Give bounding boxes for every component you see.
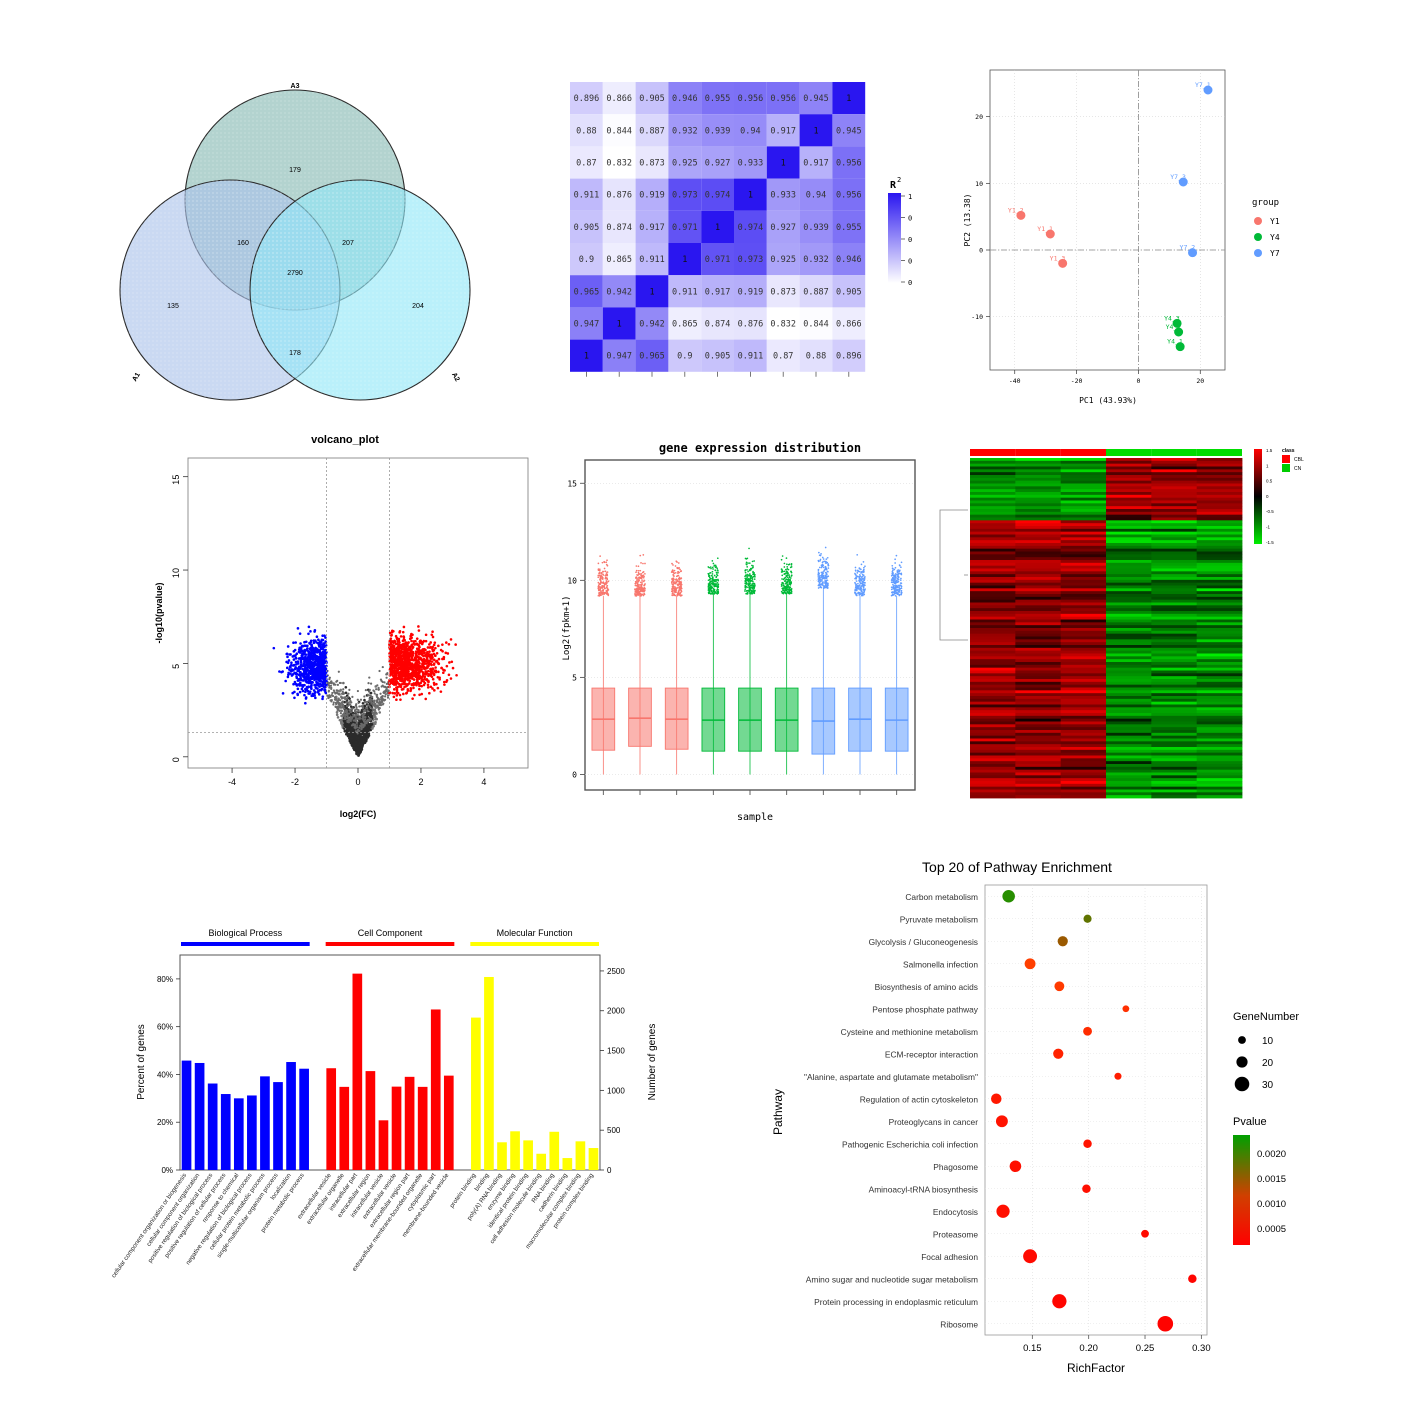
boxplot-outlier	[715, 570, 717, 572]
volcano-point	[427, 683, 430, 686]
volcano-point	[411, 697, 414, 700]
boxplot-outlier	[782, 587, 784, 589]
boxplot-outlier	[861, 589, 863, 591]
boxplot-outlier	[672, 591, 674, 593]
volcano-point	[319, 658, 322, 661]
volcano-point	[420, 668, 423, 671]
correlation-cell-value: 0.896	[574, 94, 600, 104]
boxplot-outlier	[786, 563, 788, 565]
correlation-cell-value: 0.974	[738, 223, 764, 233]
volcano-point	[313, 650, 316, 653]
boxplot-outlier	[827, 584, 829, 586]
volcano-point	[294, 641, 297, 644]
boxplot-outlier	[642, 563, 644, 565]
pca-point-label: Y7_2	[1180, 244, 1196, 252]
volcano-point	[286, 656, 289, 659]
boxplot-outlier	[712, 576, 714, 578]
volcano-point	[305, 672, 308, 675]
volcano-point	[417, 674, 420, 677]
venn-label-a2: A2	[450, 372, 461, 383]
boxplot-outlier	[786, 586, 788, 588]
boxplot-outlier	[637, 584, 639, 586]
volcano-point	[347, 693, 349, 695]
boxplot-outlier	[636, 593, 638, 595]
volcano-point	[400, 647, 403, 650]
boxplot-outlier	[863, 584, 865, 586]
boxplot-outlier	[602, 594, 604, 596]
volcano-point	[316, 683, 319, 686]
pca-panel: Y1_1Y1_2Y1_3Y4_1Y4_2Y4_3Y7_1Y7_2Y7_3 -40…	[960, 55, 1320, 415]
boxplot-outlier	[823, 570, 825, 572]
volcano-point	[406, 660, 409, 663]
boxplot-outlier	[713, 563, 715, 565]
volcano-point	[363, 740, 366, 743]
boxplot-outlier	[825, 581, 827, 583]
boxplot-outlier	[857, 583, 859, 585]
boxplot-outlier	[821, 566, 823, 568]
boxplot-outlier	[781, 582, 783, 584]
pca-plot-frame	[990, 70, 1225, 370]
correlation-legend-tick-label: 1	[908, 193, 912, 201]
volcano-point	[288, 659, 291, 662]
volcano-point	[428, 692, 431, 695]
boxplot-outlier	[599, 572, 601, 574]
boxplot-outlier	[863, 561, 865, 563]
volcano-point	[299, 642, 302, 645]
correlation-cell-value: 0.919	[639, 191, 665, 201]
volcano-point	[376, 684, 378, 686]
volcano-point	[289, 653, 292, 656]
venn-label-a1: A1	[131, 372, 142, 383]
correlation-cell-value: 0.917	[639, 223, 665, 233]
volcano-point	[390, 634, 393, 637]
boxplot-outlier	[675, 565, 677, 567]
volcano-point	[349, 740, 352, 743]
boxplot-outlier	[782, 555, 784, 557]
boxplot-outlier	[861, 585, 863, 587]
venn-svg: A3 A1 A2 179 160 207 2790 135 178 204	[60, 60, 530, 410]
volcano-point	[431, 687, 434, 690]
volcano-point	[292, 683, 295, 686]
volcano-point	[418, 646, 421, 649]
boxplot-outlier	[677, 573, 679, 575]
volcano-point	[432, 678, 435, 681]
correlation-cell-value: 0.956	[836, 159, 862, 169]
volcano-point	[368, 729, 371, 732]
volcano-point	[395, 698, 398, 701]
volcano-point	[393, 692, 396, 695]
volcano-point	[330, 688, 332, 690]
boxplot-outlier	[825, 547, 827, 549]
boxplot-outlier	[746, 574, 748, 576]
volcano-point	[407, 648, 410, 651]
volcano-point	[393, 649, 396, 652]
volcano-point	[341, 693, 343, 695]
volcano-point	[309, 630, 312, 633]
boxplot-outlier	[863, 567, 865, 569]
correlation-cell-value: 0.925	[770, 255, 796, 265]
boxplot-outlier	[640, 562, 642, 564]
boxplot-outlier	[712, 571, 714, 573]
volcano-point	[414, 664, 417, 667]
boxplot-outlier	[818, 587, 820, 589]
boxplot-outlier	[640, 581, 642, 583]
volcano-point	[335, 703, 337, 705]
correlation-cell-value: 0.933	[738, 159, 764, 169]
boxplot-outlier	[713, 588, 715, 590]
boxplot-outlier	[828, 565, 830, 567]
boxplot-outlier	[855, 567, 857, 569]
boxplot-outlier	[788, 564, 790, 566]
volcano-point	[367, 704, 369, 706]
boxplot-outlier	[752, 581, 754, 583]
volcano-point	[286, 667, 289, 670]
boxplot-outlier	[675, 572, 677, 574]
correlation-legend-tick-label: 0	[908, 236, 912, 244]
volcano-point	[418, 653, 421, 656]
volcano-point	[321, 698, 324, 701]
boxplot-outlier	[818, 569, 820, 571]
volcano-point	[437, 671, 440, 674]
volcano-point	[308, 626, 311, 629]
volcano-point	[299, 651, 302, 654]
volcano-point	[415, 671, 418, 674]
correlation-cell-value: 0.973	[672, 191, 698, 201]
volcano-point	[387, 694, 389, 696]
boxplot-outlier	[861, 571, 863, 573]
correlation-cell-value: 0.874	[606, 223, 632, 233]
correlation-cell-value: 0.88	[806, 352, 826, 362]
volcano-point	[338, 703, 340, 705]
boxplot-outlier	[602, 573, 604, 575]
boxplot-outlier	[641, 587, 643, 589]
boxplot-outlier	[790, 577, 792, 579]
boxplot-outlier	[781, 559, 783, 561]
volcano-point	[343, 714, 345, 716]
volcano-point	[323, 634, 326, 637]
boxplot-outlier	[825, 574, 827, 576]
boxplot-outlier	[747, 562, 749, 564]
volcano-point	[296, 694, 299, 697]
volcano-point	[413, 694, 416, 697]
volcano-point	[360, 728, 362, 730]
boxplot-outlier	[752, 590, 754, 592]
volcano-point	[431, 675, 434, 678]
volcano-point	[358, 740, 361, 743]
boxplot-outlier	[818, 573, 820, 575]
volcano-point	[320, 648, 323, 651]
boxplot-outlier	[639, 555, 641, 557]
boxplot-outlier	[901, 561, 903, 563]
volcano-point	[356, 711, 358, 713]
volcano-point	[400, 645, 403, 648]
volcano-point	[313, 670, 316, 673]
volcano-point	[376, 696, 378, 698]
venn-texture-a2	[250, 180, 470, 400]
boxplot-outlier	[820, 559, 822, 561]
boxplot-outlier	[598, 585, 600, 587]
boxplot-outlier	[672, 574, 674, 576]
boxplot-outlier	[898, 584, 900, 586]
venn-count-a1-a3: 160	[237, 240, 249, 247]
boxplot-outlier	[750, 580, 752, 582]
volcano-point	[292, 641, 295, 644]
boxplot-outlier	[710, 588, 712, 590]
boxplot-outlier	[672, 593, 674, 595]
boxplot-outlier	[894, 562, 896, 564]
boxplot-outlier	[713, 591, 715, 593]
volcano-point	[357, 717, 359, 719]
volcano-point	[354, 726, 356, 728]
volcano-point	[400, 673, 403, 676]
boxplot-outlier	[746, 561, 748, 563]
volcano-point	[424, 698, 427, 701]
volcano-point	[393, 696, 396, 699]
volcano-point	[341, 706, 343, 708]
pca-y-tick-label: 10	[975, 180, 983, 188]
boxplot-outlier	[786, 578, 788, 580]
boxplot-outlier	[599, 589, 601, 591]
volcano-point	[365, 689, 367, 691]
volcano-point	[332, 703, 334, 705]
boxplot-outlier	[750, 575, 752, 577]
volcano-point	[343, 692, 345, 694]
volcano-point	[426, 666, 429, 669]
boxplot-outlier	[748, 548, 750, 550]
volcano-point	[328, 678, 330, 680]
boxplot-outlier	[789, 593, 791, 595]
volcano-point	[450, 677, 453, 680]
volcano-point	[307, 652, 310, 655]
volcano-point	[313, 639, 316, 642]
boxplot-outlier	[790, 588, 792, 590]
boxplot-outlier	[638, 581, 640, 583]
boxplot-outlier	[601, 585, 603, 587]
volcano-point	[415, 675, 418, 678]
boxplot-outlier	[827, 571, 829, 573]
correlation-cell-value: 0.874	[705, 320, 731, 330]
boxplot-outlier	[673, 582, 675, 584]
volcano-point	[346, 705, 348, 707]
boxplot-outlier	[601, 573, 603, 575]
boxplot-outlier	[642, 574, 644, 576]
volcano-point	[348, 689, 350, 691]
volcano-title: volcano_plot	[311, 434, 379, 446]
volcano-point	[303, 670, 306, 673]
volcano-point	[374, 722, 377, 725]
volcano-point	[382, 691, 384, 693]
correlation-cell-value: 0.932	[803, 255, 829, 265]
boxplot-outlier	[785, 569, 787, 571]
volcano-point	[297, 688, 300, 691]
volcano-point	[446, 665, 449, 668]
volcano-point	[409, 646, 412, 649]
boxplot-outlier	[855, 577, 857, 579]
boxplot-box[interactable]	[629, 688, 652, 746]
volcano-point	[380, 680, 382, 682]
volcano-point	[334, 696, 336, 698]
boxplot-outlier	[602, 577, 604, 579]
boxplot-outlier	[679, 569, 681, 571]
volcano-point	[434, 647, 437, 650]
volcano-point	[312, 649, 315, 652]
boxplot-outlier	[900, 579, 902, 581]
volcano-point	[354, 724, 356, 726]
volcano-point	[362, 725, 364, 727]
boxplot-outlier	[602, 571, 604, 573]
volcano-point	[397, 677, 400, 680]
volcano-point	[360, 721, 363, 724]
boxplot-outlier	[640, 594, 642, 596]
volcano-point	[303, 694, 306, 697]
volcano-point	[282, 692, 285, 695]
volcano-point	[378, 704, 380, 706]
boxplot-outlier	[602, 562, 604, 564]
boxplot-outlier	[707, 573, 709, 575]
pca-x-tick-label: 0	[1136, 377, 1140, 385]
volcano-point	[418, 629, 421, 632]
boxplot-outlier	[753, 560, 755, 562]
correlation-cell-value: 0.974	[705, 191, 731, 201]
volcano-point	[316, 635, 319, 638]
correlation-cell-value: 0.911	[574, 191, 600, 201]
boxplot-outlier	[789, 580, 791, 582]
boxplot-outlier	[818, 585, 820, 587]
volcano-point	[440, 690, 443, 693]
boxplot-outlier	[855, 584, 857, 586]
volcano-point	[395, 661, 398, 664]
boxplot-outlier	[860, 569, 862, 571]
volcano-point	[335, 698, 337, 700]
boxplot-outlier	[671, 588, 673, 590]
volcano-point	[364, 709, 366, 711]
volcano-point	[436, 652, 439, 655]
boxplot-outlier	[680, 584, 682, 586]
volcano-point	[395, 652, 398, 655]
boxplot-outlier	[601, 576, 603, 578]
boxplot-outlier	[857, 586, 859, 588]
volcano-point	[387, 697, 389, 699]
volcano-point	[397, 646, 400, 649]
correlation-cell-value: 1	[584, 352, 589, 362]
venn-count-a2-a3: 207	[342, 240, 354, 247]
volcano-point	[299, 632, 302, 635]
boxplot-outlier	[713, 583, 715, 585]
volcano-point	[417, 625, 420, 628]
volcano-point	[342, 704, 344, 706]
boxplot-outlier	[753, 573, 755, 575]
volcano-point	[309, 681, 312, 684]
boxplot-outlier	[900, 566, 902, 568]
boxplot-outlier	[786, 557, 788, 559]
correlation-cell-value: 0.956	[836, 191, 862, 201]
boxplot-outlier	[896, 570, 898, 572]
volcano-y-tick-label: 15	[171, 475, 181, 485]
volcano-point	[421, 652, 424, 655]
volcano-point	[351, 737, 354, 740]
volcano-point	[345, 686, 348, 689]
boxplot-outlier	[900, 590, 902, 592]
pca-legend: Y1Y4Y7	[1254, 217, 1280, 258]
boxplot-title: gene expression distribution	[659, 441, 861, 455]
correlation-cell-value: 0.945	[803, 94, 829, 104]
boxplot-outlier	[713, 586, 715, 588]
boxplot-outlier	[717, 572, 719, 574]
boxplot-outlier	[791, 575, 793, 577]
volcano-point	[291, 668, 294, 671]
volcano-point	[328, 685, 330, 687]
volcano-point	[344, 730, 347, 733]
boxplot-outlier	[641, 583, 643, 585]
pca-point-label: Y7_1	[1195, 81, 1211, 89]
volcano-point	[392, 653, 395, 656]
volcano-point	[318, 642, 321, 645]
boxplot-outlier	[714, 575, 716, 577]
volcano-point	[355, 741, 358, 744]
boxplot-outlier	[640, 577, 642, 579]
boxplot-outlier	[791, 572, 793, 574]
volcano-point	[358, 727, 360, 729]
volcano-point	[292, 655, 295, 658]
boxplot-outlier	[715, 566, 717, 568]
boxplot-outlier	[824, 560, 826, 562]
boxplot-outlier	[708, 593, 710, 595]
boxplot-outlier	[644, 573, 646, 575]
volcano-point	[315, 657, 318, 660]
volcano-point	[434, 641, 437, 644]
volcano-point	[415, 652, 418, 655]
boxplot-outlier	[606, 583, 608, 585]
volcano-point	[338, 671, 340, 673]
volcano-point	[430, 668, 433, 671]
boxplot-outlier	[635, 585, 637, 587]
volcano-point	[303, 649, 306, 652]
volcano-point	[346, 712, 348, 714]
boxplot-outlier	[791, 564, 793, 566]
volcano-point	[374, 705, 376, 707]
boxplot-outlier	[638, 588, 640, 590]
boxplot-outlier	[672, 583, 674, 585]
boxplot-outlier	[787, 590, 789, 592]
volcano-point	[344, 698, 346, 700]
boxplot-outlier	[860, 587, 862, 589]
boxplot-panel: gene expression distribution 051015 samp…	[560, 430, 950, 830]
boxplot-outlier	[856, 572, 858, 574]
boxplot-outlier	[673, 579, 675, 581]
volcano-point	[376, 704, 378, 706]
correlation-cell-value: 0.965	[639, 352, 665, 362]
boxplot-outlier	[643, 585, 645, 587]
volcano-point	[392, 674, 395, 677]
boxplot-outlier	[754, 578, 756, 580]
volcano-point	[290, 664, 293, 667]
boxplot-outlier	[821, 574, 823, 576]
volcano-point	[299, 682, 302, 685]
volcano-point	[361, 748, 364, 751]
volcano-point	[294, 649, 297, 652]
correlation-cell-value: 0.911	[639, 255, 665, 265]
boxplot-outlier	[790, 582, 792, 584]
boxplot-outlier	[717, 582, 719, 584]
pca-x-tick-label: 20	[1196, 377, 1204, 385]
boxplot-outlier	[679, 588, 681, 590]
boxplot-outlier	[671, 581, 673, 583]
volcano-point	[319, 645, 322, 648]
correlation-cell-value: 0.917	[803, 159, 829, 169]
volcano-point	[284, 680, 287, 683]
boxplot-outlier	[717, 585, 719, 587]
boxplot-outlier	[680, 581, 682, 583]
